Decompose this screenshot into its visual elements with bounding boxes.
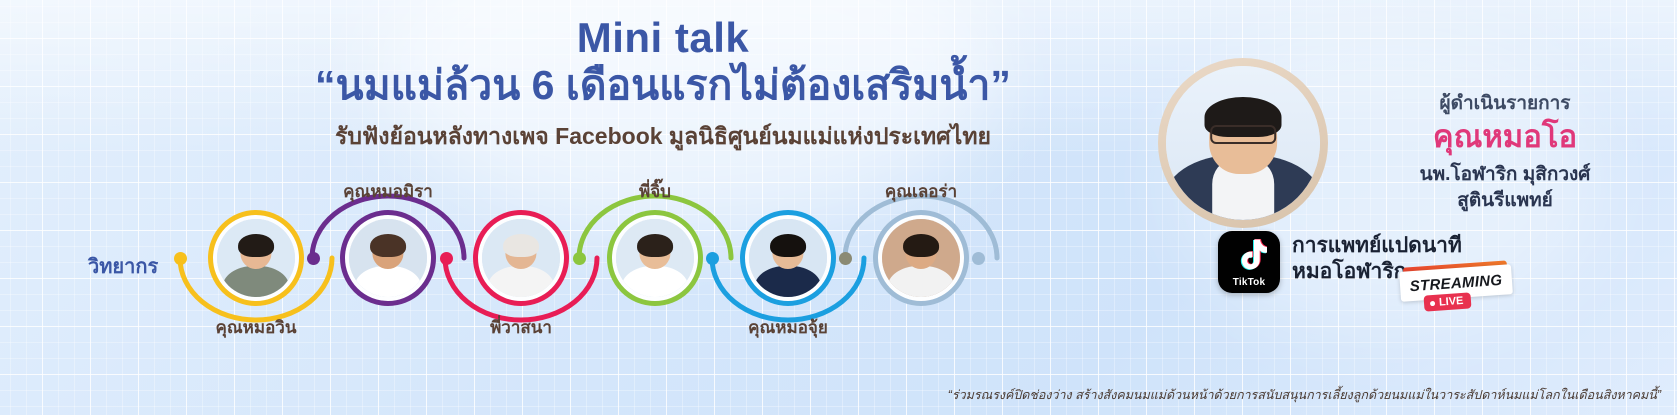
- glasses-icon: [1210, 125, 1276, 144]
- timeline-connector-dot: [440, 252, 453, 265]
- channel-name-line1: การแพทย์แปดนาที: [1292, 233, 1462, 259]
- speaker-avatar-photo: [749, 219, 827, 297]
- host-avatar-photo: [1166, 66, 1320, 220]
- host-info: ผู้ดำเนินรายการ คุณหมอโอ นพ.โอฬาริก มุสิ…: [1355, 88, 1655, 213]
- speaker-name: คุณหมอจุ้ย: [698, 314, 878, 341]
- speaker-name: คุณหมอมิรา: [298, 178, 478, 205]
- speaker-name: คุณเลอร่า: [831, 178, 1011, 205]
- live-dot-icon: [1430, 300, 1435, 305]
- speaker-avatar-photo: [349, 219, 427, 297]
- tiktok-icon[interactable]: TikTok: [1218, 231, 1280, 293]
- speaker-avatar-photo: [616, 219, 694, 297]
- timeline-connector-dot: [972, 252, 985, 265]
- campaign-footnote: “ร่วมรณรงค์ปิดช่องว่าง สร้างสังคมนมแม่ด้…: [948, 385, 1661, 405]
- speaker-name: คุณหมอวิน: [166, 314, 346, 341]
- speakers-label: วิทยากร: [88, 250, 158, 282]
- timeline-connector-dot: [839, 252, 852, 265]
- page-title: Mini talk: [258, 16, 1068, 60]
- speaker-avatar-photo: [482, 219, 560, 297]
- talk-topic: “นมแม่ล้วน 6 เดือนแรกไม่ต้องเสริมน้ำ”: [258, 62, 1068, 109]
- host-avatar: [1128, 58, 1358, 228]
- timeline-connector-dot: [706, 252, 719, 265]
- speaker-avatar[interactable]: [873, 210, 969, 306]
- speaker-avatar[interactable]: [740, 210, 836, 306]
- tiktok-wordmark: TikTok: [1218, 277, 1280, 288]
- channel-row[interactable]: TikTok การแพทย์แปดนาที หมอโอฬาริก: [1218, 231, 1280, 293]
- speaker-avatar[interactable]: [208, 210, 304, 306]
- timeline-connector-dot: [307, 252, 320, 265]
- host-full-name: นพ.โอฬาริก มุสิกวงศ์: [1355, 162, 1655, 188]
- speaker-avatar[interactable]: [607, 210, 703, 306]
- headline-block: Mini talk “นมแม่ล้วน 6 เดือนแรกไม่ต้องเส…: [258, 16, 1068, 151]
- streaming-label: STREAMING: [1409, 271, 1503, 294]
- speaker-timeline: วิทยากร คุณหมอวินคุณหมอมิราพี่วาสนาพี่จิ…: [0, 178, 1060, 353]
- tiktok-note-icon: [1231, 239, 1267, 273]
- timeline-connector-dot: [573, 252, 586, 265]
- replay-info: รับฟังย้อนหลังทางเพจ Facebook มูลนิธิศูน…: [258, 123, 1068, 151]
- promotional-banner: Mini talk “นมแม่ล้วน 6 เดือนแรกไม่ต้องเส…: [0, 0, 1677, 415]
- live-badge: LIVE: [1423, 292, 1471, 311]
- speaker-avatar-photo: [882, 219, 960, 297]
- live-label: LIVE: [1439, 295, 1464, 309]
- host-role: ผู้ดำเนินรายการ: [1355, 88, 1655, 118]
- timeline-connector-dot: [174, 252, 187, 265]
- host-specialty: สูตินรีแพทย์: [1355, 188, 1655, 214]
- speaker-name: พี่วาสนา: [431, 314, 611, 341]
- speaker-avatar[interactable]: [473, 210, 569, 306]
- speaker-name: พี่จิ๊บ: [565, 178, 745, 205]
- speaker-avatar-photo: [217, 219, 295, 297]
- host-nickname: คุณหมอโอ: [1355, 120, 1655, 154]
- speaker-avatar[interactable]: [340, 210, 436, 306]
